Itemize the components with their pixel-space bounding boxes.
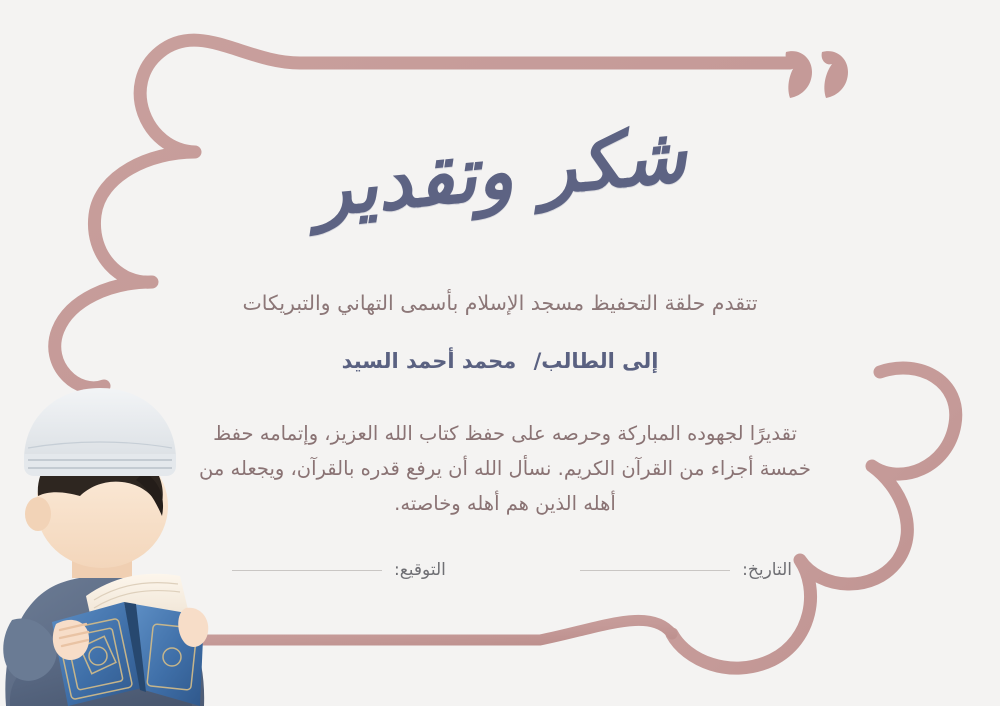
- recipient-label: إلى الطالب/: [534, 349, 659, 373]
- body-line-3: أهله الذين هم أهله وخاصته.: [190, 486, 820, 521]
- signature-rule: [232, 570, 382, 571]
- date-rule: [580, 570, 730, 571]
- date-label: التاريخ:: [742, 560, 792, 580]
- signature-label: التوقيع:: [394, 560, 446, 580]
- ear: [25, 497, 51, 531]
- recipient-line: إلى الطالب/ محمد أحمد السيد: [0, 349, 1000, 373]
- boy-reading-quran-illustration: [0, 376, 232, 706]
- certificate-title: شكر وتقدير: [0, 80, 1000, 263]
- certificate-page: شكر وتقدير تتقدم حلقة التحفيظ مسجد الإسل…: [0, 0, 1000, 706]
- cap-band: [24, 454, 176, 476]
- date-field: التاريخ:: [580, 560, 792, 580]
- signature-field: التوقيع:: [232, 560, 446, 580]
- body-line-2: خمسة أجزاء من القرآن الكريم. نسأل الله أ…: [190, 451, 820, 486]
- certificate-footer: التاريخ: التوقيع:: [232, 560, 792, 580]
- certificate-body: تقديرًا لجهوده المباركة وحرصه على حفظ كت…: [190, 416, 820, 521]
- recipient-name: محمد أحمد السيد: [342, 349, 517, 373]
- body-line-1: تقديرًا لجهوده المباركة وحرصه على حفظ كت…: [190, 416, 820, 451]
- certificate-subtitle: تتقدم حلقة التحفيظ مسجد الإسلام بأسمى ال…: [0, 291, 1000, 315]
